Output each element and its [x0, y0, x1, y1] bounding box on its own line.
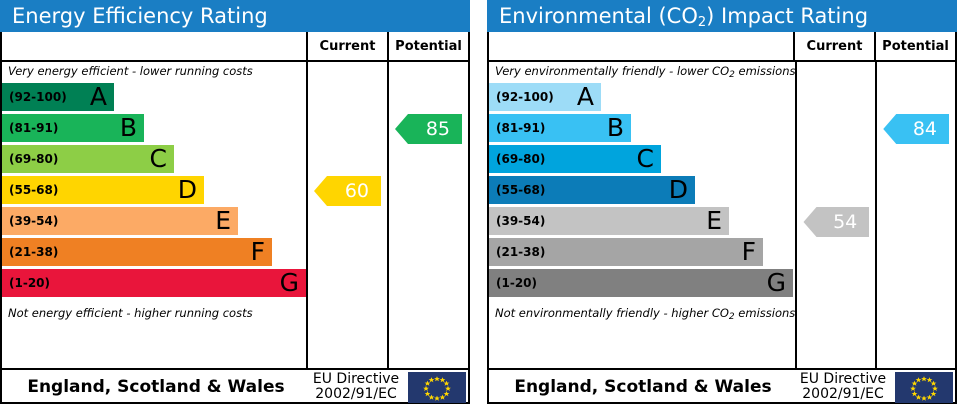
- band-row-a-co2: (92-100) A: [489, 83, 601, 111]
- eu-flag-icon: [895, 372, 953, 403]
- eu-flag-stars-icon: [408, 372, 466, 403]
- footer-directive-line2-energy: 2002/91/EC: [306, 387, 406, 402]
- band-row-b-energy: (81-91) B: [2, 114, 144, 142]
- chart-title-co2: Environmental (CO2) Impact Rating: [487, 0, 957, 32]
- footer-flag-cell-energy: [406, 372, 468, 403]
- band-row-c-co2: (69-80) C: [489, 145, 661, 173]
- band-row-f-energy: (21-38) F: [2, 238, 272, 266]
- band-letter-g-energy: G: [280, 270, 299, 295]
- band-scale-column-co2: Very environmentally friendly - lower CO…: [489, 62, 797, 368]
- band-range-g-energy: (1-20): [2, 276, 50, 290]
- band-range-b-co2: (81-91): [489, 121, 545, 135]
- band-range-c-energy: (69-80): [2, 152, 58, 166]
- eu-flag-stars-icon: [895, 372, 953, 403]
- band-letter-g-co2: G: [767, 270, 786, 295]
- band-row-a-energy: (92-100) A: [2, 83, 114, 111]
- band-letter-a-energy: A: [90, 84, 107, 109]
- header-potential-co2: Potential: [876, 32, 955, 60]
- band-row-d-co2: (55-68) D: [489, 176, 695, 204]
- chart-title-co2-post: ) Impact Rating: [706, 4, 868, 28]
- footer-directive-line1-co2: EU Directive: [793, 372, 893, 387]
- band-bars-co2: (92-100) A (81-91) B (69-80) C (55-68): [489, 83, 795, 303]
- current-column-co2: 54: [797, 62, 877, 368]
- band-range-a-co2: (92-100): [489, 90, 554, 104]
- band-range-b-energy: (81-91): [2, 121, 58, 135]
- chart-frame-energy: Current Potential Very energy efficient …: [0, 32, 470, 404]
- chart-footer-energy: England, Scotland & Wales EU Directive 2…: [2, 368, 468, 404]
- band-scale-column-energy: Very energy efficient - lower running co…: [2, 62, 308, 368]
- epc-charts-page: Energy Efficiency Rating Current Potenti…: [0, 0, 957, 404]
- band-letter-e-co2: E: [706, 208, 722, 233]
- band-letter-b-energy: B: [120, 115, 137, 140]
- potential-rating-arrow-co2: 84: [883, 114, 949, 144]
- band-letter-d-co2: D: [669, 177, 688, 202]
- band-letter-a-co2: A: [577, 84, 594, 109]
- column-header-row-co2: Current Potential: [489, 32, 955, 62]
- header-spacer-co2: [489, 32, 795, 60]
- band-letter-e-energy: E: [215, 208, 231, 233]
- caption-bottom-co2-subscript: 2: [729, 312, 735, 322]
- current-rating-arrow-energy: 60: [314, 176, 381, 206]
- band-row-e-co2: (39-54) E: [489, 207, 729, 235]
- caption-top-co2-post: emissions: [735, 64, 796, 78]
- band-row-b-co2: (81-91) B: [489, 114, 631, 142]
- band-range-d-energy: (55-68): [2, 183, 58, 197]
- co2-impact-rating-chart: Environmental (CO2) Impact Rating Curren…: [487, 0, 957, 404]
- header-current-co2: Current: [795, 32, 876, 60]
- band-range-e-energy: (39-54): [2, 214, 58, 228]
- potential-rating-arrow-energy: 85: [395, 114, 462, 144]
- band-row-g-co2: (1-20) G: [489, 269, 793, 297]
- chart-body-co2: Very environmentally friendly - lower CO…: [489, 62, 955, 368]
- chart-footer-co2: England, Scotland & Wales EU Directive 2…: [489, 368, 955, 404]
- energy-efficiency-rating-chart: Energy Efficiency Rating Current Potenti…: [0, 0, 470, 404]
- chart-title-energy: Energy Efficiency Rating: [0, 0, 470, 32]
- band-letter-f-co2: F: [742, 239, 756, 264]
- caption-top-co2: Very environmentally friendly - lower CO…: [489, 62, 795, 83]
- header-spacer-energy: [2, 32, 308, 60]
- header-potential-energy: Potential: [389, 32, 468, 60]
- eu-flag-icon: [408, 372, 466, 403]
- band-letter-c-co2: C: [637, 146, 654, 171]
- chart-frame-co2: Current Potential Very environmentally f…: [487, 32, 957, 404]
- footer-region-co2: England, Scotland & Wales: [489, 377, 793, 397]
- caption-bottom-co2-pre: Not environmentally friendly - higher CO: [495, 306, 729, 320]
- footer-directive-co2: EU Directive 2002/91/EC: [793, 372, 893, 401]
- band-letter-d-energy: D: [178, 177, 197, 202]
- band-letter-f-energy: F: [251, 239, 265, 264]
- caption-bottom-energy: Not energy efficient - higher running co…: [2, 303, 306, 324]
- band-range-c-co2: (69-80): [489, 152, 545, 166]
- column-header-row-energy: Current Potential: [2, 32, 468, 62]
- band-letter-b-co2: B: [607, 115, 624, 140]
- band-bars-energy: (92-100) A (81-91) B (69-80) C (55-68): [2, 83, 306, 303]
- chart-title-co2-pre: Environmental (CO: [499, 4, 698, 28]
- band-letter-c-energy: C: [150, 146, 167, 171]
- band-range-d-co2: (55-68): [489, 183, 545, 197]
- current-column-energy: 60: [308, 62, 389, 368]
- caption-top-co2-subscript: 2: [729, 70, 735, 80]
- band-range-f-energy: (21-38): [2, 245, 58, 259]
- potential-column-co2: 84: [877, 62, 955, 368]
- band-range-g-co2: (1-20): [489, 276, 537, 290]
- chart-body-energy: Very energy efficient - lower running co…: [2, 62, 468, 368]
- band-range-e-co2: (39-54): [489, 214, 545, 228]
- band-range-f-co2: (21-38): [489, 245, 545, 259]
- band-row-g-energy: (1-20) G: [2, 269, 306, 297]
- current-rating-arrow-co2: 54: [803, 207, 869, 237]
- potential-column-energy: 85: [389, 62, 468, 368]
- footer-directive-line2-co2: 2002/91/EC: [793, 387, 893, 402]
- caption-bottom-co2-post: emissions: [735, 306, 796, 320]
- chart-title-co2-subscript: 2: [698, 15, 706, 30]
- band-row-e-energy: (39-54) E: [2, 207, 238, 235]
- footer-region-energy: England, Scotland & Wales: [2, 377, 306, 397]
- caption-bottom-co2: Not environmentally friendly - higher CO…: [489, 303, 795, 324]
- band-row-c-energy: (69-80) C: [2, 145, 174, 173]
- band-row-f-co2: (21-38) F: [489, 238, 763, 266]
- footer-flag-cell-co2: [893, 372, 955, 403]
- caption-top-co2-pre: Very environmentally friendly - lower CO: [495, 64, 729, 78]
- band-range-a-energy: (92-100): [2, 90, 67, 104]
- caption-top-energy: Very energy efficient - lower running co…: [2, 62, 306, 83]
- header-current-energy: Current: [308, 32, 389, 60]
- footer-directive-energy: EU Directive 2002/91/EC: [306, 372, 406, 401]
- footer-directive-line1-energy: EU Directive: [306, 372, 406, 387]
- band-row-d-energy: (55-68) D: [2, 176, 204, 204]
